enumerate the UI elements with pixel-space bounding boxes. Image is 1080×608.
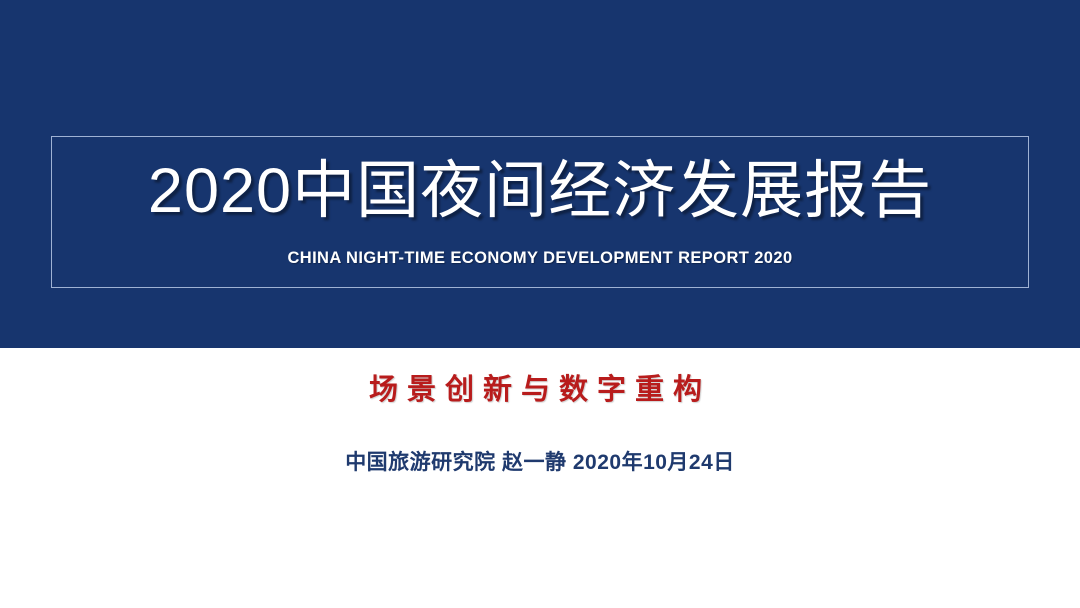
page-title: 2020中国夜间经济发展报告 [52,149,1028,233]
author-and-date-byline: 中国旅游研究院 赵一静 2020年10月24日 [0,448,1080,478]
title-slide: 2020中国夜间经济发展报告 CHINA NIGHT-TIME ECONOMY … [0,0,1080,608]
lower-white-area: 场景创新与数字重构 中国旅游研究院 赵一静 2020年10月24日 [0,348,1080,608]
theme-heading: 场景创新与数字重构 [0,370,1080,410]
english-subtitle: CHINA NIGHT-TIME ECONOMY DEVELOPMENT REP… [52,247,1028,269]
hero-blue-band: 2020中国夜间经济发展报告 CHINA NIGHT-TIME ECONOMY … [0,0,1080,348]
title-outline-frame: 2020中国夜间经济发展报告 CHINA NIGHT-TIME ECONOMY … [51,136,1029,288]
